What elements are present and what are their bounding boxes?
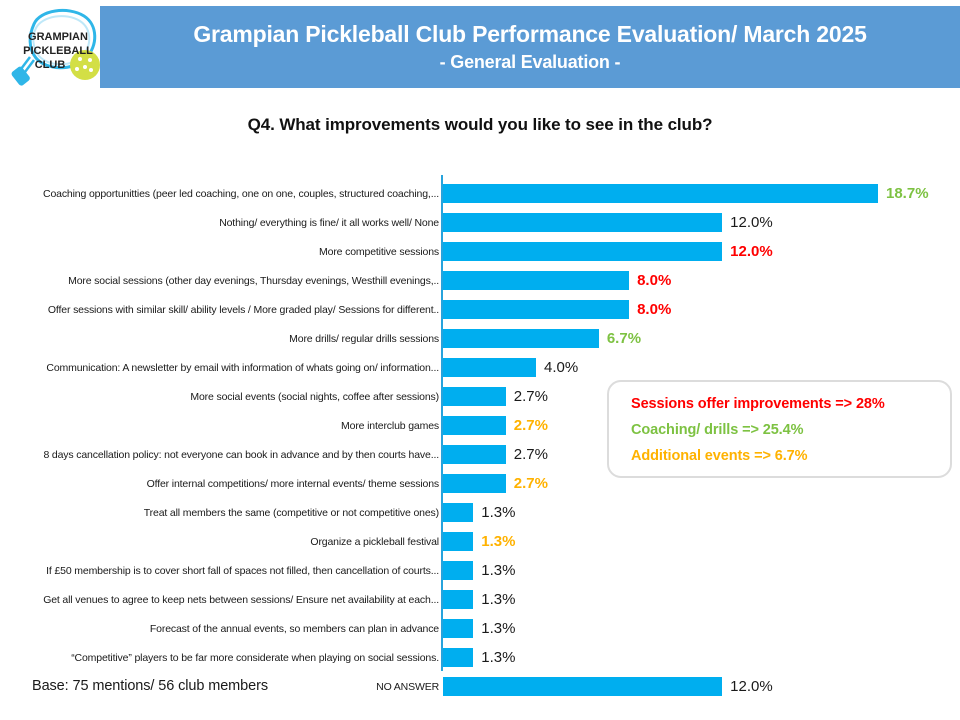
bar-fill bbox=[443, 242, 722, 261]
bar-fill bbox=[443, 677, 722, 696]
bar-category-label: Nothing/ everything is fine/ it all work… bbox=[4, 208, 439, 237]
bar-category-label: Forecast of the annual events, so member… bbox=[4, 614, 439, 643]
bar-value-label: 1.3% bbox=[473, 532, 515, 551]
bar-category-label: “Competitive” players to be far more con… bbox=[4, 643, 439, 672]
base-note: Base: 75 mentions/ 56 club members bbox=[32, 678, 268, 694]
bar-value-label: 2.7% bbox=[506, 416, 548, 435]
bar-value-label: 1.3% bbox=[473, 619, 515, 638]
bar-value-label: 4.0% bbox=[536, 358, 578, 377]
logo-line3: CLUB bbox=[35, 59, 66, 71]
bar-fill bbox=[443, 300, 629, 319]
bar-fill bbox=[443, 619, 473, 638]
bar-value-label: 12.0% bbox=[722, 677, 773, 696]
bar-row: “Competitive” players to be far more con… bbox=[0, 643, 960, 672]
bar-fill bbox=[443, 271, 629, 290]
bar-value-label: 2.7% bbox=[506, 445, 548, 464]
bar-fill bbox=[443, 213, 722, 232]
bar-row: Get all venues to agree to keep nets bet… bbox=[0, 585, 960, 614]
bar-category-label: More social events (social nights, coffe… bbox=[4, 382, 439, 411]
bar-fill bbox=[443, 532, 473, 551]
bar-category-label: Treat all members the same (competitive … bbox=[4, 498, 439, 527]
bar-value-label: 12.0% bbox=[722, 242, 773, 261]
bar-category-label: More competitive sessions bbox=[4, 237, 439, 266]
bar-value-label: 8.0% bbox=[629, 271, 671, 290]
bar-fill bbox=[443, 648, 473, 667]
bar-value-label: 1.3% bbox=[473, 561, 515, 580]
bar-category-label: Get all venues to agree to keep nets bet… bbox=[4, 585, 439, 614]
bar-value-label: 6.7% bbox=[599, 329, 641, 348]
callout-line-coaching: Coaching/ drills => 25.4% bbox=[631, 418, 950, 444]
club-logo-graphic: GRAMPIAN PICKLEBALL CLUB bbox=[6, 2, 110, 94]
bar-row: More drills/ regular drills sessions6.7% bbox=[0, 324, 960, 353]
bar-fill bbox=[443, 445, 506, 464]
bar-value-label: 8.0% bbox=[629, 300, 671, 319]
bar-row: Organize a pickleball festival1.3% bbox=[0, 527, 960, 556]
bar-row: More social sessions (other day evenings… bbox=[0, 266, 960, 295]
bar-category-label: Offer sessions with similar skill/ abili… bbox=[4, 295, 439, 324]
question-title: Q4. What improvements would you like to … bbox=[0, 115, 960, 135]
bar-row: Communication: A newsletter by email wit… bbox=[0, 353, 960, 382]
callout-line-sessions: Sessions offer improvements => 28% bbox=[631, 392, 950, 418]
bar-row: If £50 membership is to cover short fall… bbox=[0, 556, 960, 585]
bar-category-label: If £50 membership is to cover short fall… bbox=[4, 556, 439, 585]
bar-row: Coaching opportunitties (peer led coachi… bbox=[0, 179, 960, 208]
callout-line-events: Additional events => 6.7% bbox=[631, 444, 950, 470]
bar-row: More competitive sessions12.0% bbox=[0, 237, 960, 266]
logo-line2: PICKLEBALL bbox=[23, 45, 93, 57]
bar-category-label: 8 days cancellation policy: not everyone… bbox=[4, 440, 439, 469]
header-title: Grampian Pickleball Club Performance Eva… bbox=[193, 21, 866, 48]
bar-category-label: More social sessions (other day evenings… bbox=[4, 266, 439, 295]
bar-fill bbox=[443, 416, 506, 435]
bar-category-label: Coaching opportunitties (peer led coachi… bbox=[4, 179, 439, 208]
bar-category-label: More drills/ regular drills sessions bbox=[4, 324, 439, 353]
bar-fill bbox=[443, 387, 506, 406]
bar-fill bbox=[443, 503, 473, 522]
club-logo: GRAMPIAN PICKLEBALL CLUB bbox=[6, 2, 110, 94]
bar-value-label: 18.7% bbox=[878, 184, 929, 203]
logo-line1: GRAMPIAN bbox=[28, 31, 88, 43]
bar-category-label: More interclub games bbox=[4, 411, 439, 440]
bar-category-label: Organize a pickleball festival bbox=[4, 527, 439, 556]
bar-row: Forecast of the annual events, so member… bbox=[0, 614, 960, 643]
bar-fill bbox=[443, 329, 599, 348]
bar-value-label: 1.3% bbox=[473, 503, 515, 522]
bar-value-label: 12.0% bbox=[722, 213, 773, 232]
bar-row: Nothing/ everything is fine/ it all work… bbox=[0, 208, 960, 237]
bar-fill bbox=[443, 561, 473, 580]
bar-value-label: 2.7% bbox=[506, 474, 548, 493]
bar-category-label: Communication: A newsletter by email wit… bbox=[4, 353, 439, 382]
summary-callout-box: Sessions offer improvements => 28% Coach… bbox=[607, 380, 952, 478]
bar-value-label: 2.7% bbox=[506, 387, 548, 406]
bar-category-label: Offer internal competitions/ more intern… bbox=[4, 469, 439, 498]
bar-value-label: 1.3% bbox=[473, 648, 515, 667]
header-banner: Grampian Pickleball Club Performance Eva… bbox=[100, 6, 960, 88]
bar-fill bbox=[443, 474, 506, 493]
bar-fill bbox=[443, 184, 878, 203]
bar-row: Treat all members the same (competitive … bbox=[0, 498, 960, 527]
bar-value-label: 1.3% bbox=[473, 590, 515, 609]
bar-fill bbox=[443, 590, 473, 609]
bar-fill bbox=[443, 358, 536, 377]
header-subtitle: - General Evaluation - bbox=[440, 52, 621, 73]
bar-row: Offer sessions with similar skill/ abili… bbox=[0, 295, 960, 324]
